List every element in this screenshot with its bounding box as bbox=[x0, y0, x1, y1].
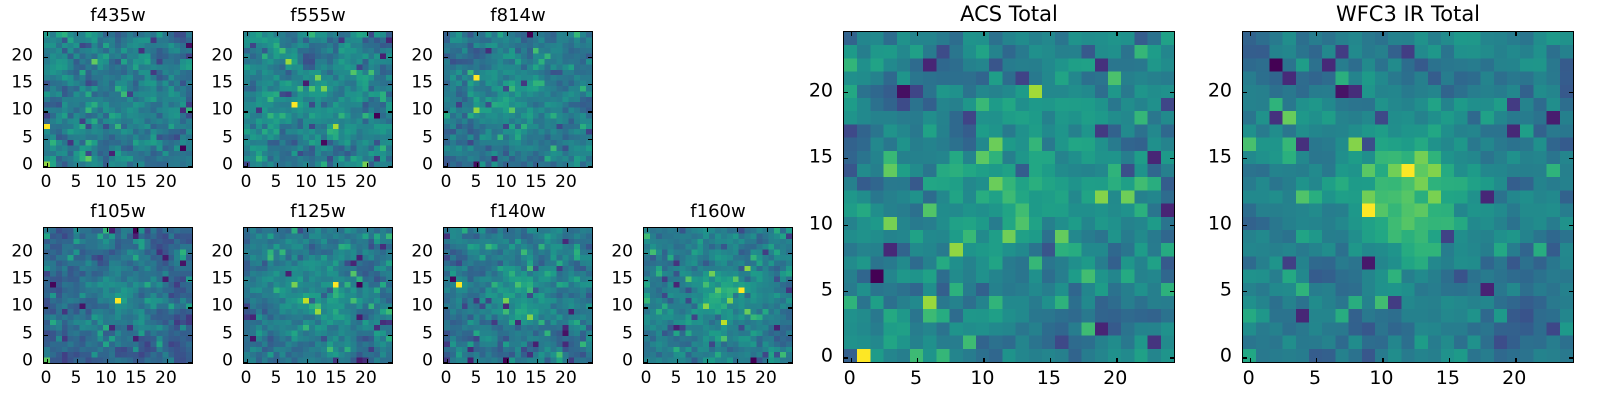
y-tick-f555w-1 bbox=[244, 139, 248, 140]
y-tick-right-f105w-2 bbox=[188, 307, 192, 308]
x-tick-top-f160w-3 bbox=[737, 228, 738, 232]
x-tick-top-f105w-4 bbox=[167, 228, 168, 232]
x-tick-f814w-3 bbox=[537, 163, 538, 167]
y-tick-label-wrap-f160w-2: 10 bbox=[611, 298, 633, 315]
heatmap-image-f105w bbox=[44, 228, 192, 363]
y-tick-right-f160w-4 bbox=[788, 253, 792, 254]
x-tick-f814w-4 bbox=[567, 163, 568, 167]
heatmap-axes-acs-total bbox=[843, 31, 1175, 363]
y-tick-label-wrap-acs-total-0: 0 bbox=[821, 347, 833, 366]
heatmap-axes-f555w bbox=[243, 31, 393, 168]
y-tick-right-f105w-3 bbox=[188, 280, 192, 281]
x-tick-label-f105w-3: 15 bbox=[125, 370, 147, 387]
y-tick-right-f160w-1 bbox=[788, 335, 792, 336]
y-tick-acs-total-1 bbox=[844, 291, 848, 292]
x-tick-label-f555w-3: 15 bbox=[325, 174, 347, 191]
y-tick-label-wrap-f140w-2: 10 bbox=[411, 298, 433, 315]
x-tick-top-f125w-2 bbox=[307, 228, 308, 232]
x-tick-top-f814w-4 bbox=[567, 32, 568, 36]
x-tick-label-acs-total-2: 10 bbox=[970, 369, 994, 388]
x-tick-label-acs-total-1: 5 bbox=[910, 369, 922, 388]
x-tick-top-acs-total-3 bbox=[1050, 32, 1051, 36]
x-tick-top-f555w-3 bbox=[337, 32, 338, 36]
x-tick-wfc3-ir-total-3 bbox=[1449, 358, 1450, 362]
x-tick-top-f105w-0 bbox=[47, 228, 48, 232]
x-tick-top-f555w-1 bbox=[277, 32, 278, 36]
y-tick-right-f125w-4 bbox=[388, 253, 392, 254]
y-tick-wfc3-ir-total-3 bbox=[1243, 158, 1247, 159]
x-tick-label-f160w-2: 10 bbox=[695, 370, 717, 387]
x-tick-label-f140w-0: 0 bbox=[441, 370, 452, 387]
y-tick-f435w-1 bbox=[44, 139, 48, 140]
y-tick-right-wfc3-ir-total-1 bbox=[1569, 291, 1573, 292]
y-tick-f160w-3 bbox=[644, 280, 648, 281]
heatmap-axes-f125w bbox=[243, 227, 393, 364]
y-tick-right-f160w-3 bbox=[788, 280, 792, 281]
x-tick-label-f435w-2: 10 bbox=[95, 174, 117, 191]
x-tick-top-f140w-4 bbox=[567, 228, 568, 232]
x-tick-f160w-3 bbox=[737, 359, 738, 363]
y-tick-label-wrap-f125w-0: 0 bbox=[222, 353, 233, 370]
x-tick-f105w-1 bbox=[77, 359, 78, 363]
y-tick-f814w-2 bbox=[444, 111, 448, 112]
y-tick-acs-total-2 bbox=[844, 225, 848, 226]
y-tick-f555w-3 bbox=[244, 84, 248, 85]
x-tick-label-f814w-1: 5 bbox=[471, 174, 482, 191]
x-tick-top-f814w-1 bbox=[477, 32, 478, 36]
y-tick-f160w-0 bbox=[644, 362, 648, 363]
x-tick-label-f160w-3: 15 bbox=[725, 370, 747, 387]
y-tick-right-acs-total-2 bbox=[1170, 225, 1174, 226]
x-tick-acs-total-4 bbox=[1116, 358, 1117, 362]
y-tick-right-wfc3-ir-total-0 bbox=[1569, 357, 1573, 358]
heatmap-image-f555w bbox=[244, 32, 392, 167]
x-tick-f140w-4 bbox=[567, 359, 568, 363]
y-tick-label-wrap-f105w-3: 15 bbox=[11, 271, 33, 288]
x-tick-label-wfc3-ir-total-4: 20 bbox=[1502, 369, 1526, 388]
x-tick-f160w-4 bbox=[767, 359, 768, 363]
x-tick-label-f814w-2: 10 bbox=[495, 174, 517, 191]
heatmap-image-acs-total bbox=[844, 32, 1174, 362]
y-tick-label-wrap-wfc3-ir-total-1: 5 bbox=[1220, 280, 1232, 299]
panel-title-f435w: f435w bbox=[43, 7, 193, 25]
y-tick-label-wrap-f435w-0: 0 bbox=[22, 157, 33, 174]
y-tick-right-f125w-2 bbox=[388, 307, 392, 308]
y-tick-label-wrap-f140w-3: 15 bbox=[411, 271, 433, 288]
y-tick-f814w-1 bbox=[444, 139, 448, 140]
y-tick-right-f125w-1 bbox=[388, 335, 392, 336]
x-tick-f814w-2 bbox=[507, 163, 508, 167]
y-tick-label-wrap-f105w-2: 10 bbox=[11, 298, 33, 315]
x-tick-wfc3-ir-total-0 bbox=[1250, 358, 1251, 362]
y-tick-label-wrap-f105w-1: 5 bbox=[22, 325, 33, 342]
x-tick-f814w-1 bbox=[477, 163, 478, 167]
y-tick-label-wrap-f435w-4: 20 bbox=[11, 47, 33, 64]
x-tick-label-f814w-3: 15 bbox=[525, 174, 547, 191]
x-tick-top-wfc3-ir-total-2 bbox=[1382, 32, 1383, 36]
x-tick-wfc3-ir-total-2 bbox=[1382, 358, 1383, 362]
heatmap-axes-f105w bbox=[43, 227, 193, 364]
x-tick-label-wfc3-ir-total-0: 0 bbox=[1243, 369, 1255, 388]
x-tick-f125w-1 bbox=[277, 359, 278, 363]
x-tick-label-f435w-1: 5 bbox=[71, 174, 82, 191]
x-tick-label-f435w-0: 0 bbox=[41, 174, 52, 191]
y-tick-right-f814w-2 bbox=[588, 111, 592, 112]
y-tick-f435w-3 bbox=[44, 84, 48, 85]
x-tick-f125w-3 bbox=[337, 359, 338, 363]
x-tick-wfc3-ir-total-4 bbox=[1515, 358, 1516, 362]
y-tick-wfc3-ir-total-2 bbox=[1243, 225, 1247, 226]
panel-f435w: f435w0510152005101520 bbox=[43, 31, 193, 168]
x-tick-top-f125w-4 bbox=[367, 228, 368, 232]
y-tick-label-wrap-f814w-3: 15 bbox=[411, 75, 433, 92]
x-tick-top-f140w-2 bbox=[507, 228, 508, 232]
panel-f814w: f814w0510152005101520 bbox=[443, 31, 593, 168]
y-tick-f140w-4 bbox=[444, 253, 448, 254]
x-tick-top-f140w-3 bbox=[537, 228, 538, 232]
y-tick-label-wrap-f125w-1: 5 bbox=[222, 325, 233, 342]
x-tick-top-f160w-2 bbox=[707, 228, 708, 232]
panel-title-wfc3-ir-total: WFC3 IR Total bbox=[1242, 4, 1574, 25]
y-tick-label-wrap-acs-total-3: 15 bbox=[809, 148, 833, 167]
y-tick-right-f814w-3 bbox=[588, 84, 592, 85]
x-tick-label-f105w-0: 0 bbox=[41, 370, 52, 387]
y-tick-right-f125w-3 bbox=[388, 280, 392, 281]
y-tick-label-wrap-f140w-1: 5 bbox=[422, 325, 433, 342]
y-tick-right-f435w-0 bbox=[188, 166, 192, 167]
y-tick-right-f555w-1 bbox=[388, 139, 392, 140]
y-tick-f160w-4 bbox=[644, 253, 648, 254]
y-tick-right-f140w-4 bbox=[588, 253, 592, 254]
y-tick-right-wfc3-ir-total-4 bbox=[1569, 92, 1573, 93]
x-tick-top-acs-total-4 bbox=[1116, 32, 1117, 36]
x-tick-label-f140w-2: 10 bbox=[495, 370, 517, 387]
x-tick-label-f105w-4: 20 bbox=[155, 370, 177, 387]
panel-title-f125w: f125w bbox=[243, 203, 393, 221]
heatmap-axes-f814w bbox=[443, 31, 593, 168]
panel-title-f814w: f814w bbox=[443, 7, 593, 25]
y-tick-label-wrap-f814w-1: 5 bbox=[422, 129, 433, 146]
x-tick-top-f555w-2 bbox=[307, 32, 308, 36]
heatmap-image-f140w bbox=[444, 228, 592, 363]
y-tick-f125w-1 bbox=[244, 335, 248, 336]
x-tick-f435w-3 bbox=[137, 163, 138, 167]
x-tick-top-f125w-1 bbox=[277, 228, 278, 232]
x-tick-label-acs-total-4: 20 bbox=[1103, 369, 1127, 388]
y-tick-right-f435w-3 bbox=[188, 84, 192, 85]
y-tick-f160w-1 bbox=[644, 335, 648, 336]
x-tick-top-f160w-0 bbox=[647, 228, 648, 232]
x-tick-acs-total-2 bbox=[983, 358, 984, 362]
x-tick-label-f555w-2: 10 bbox=[295, 174, 317, 191]
y-tick-right-f125w-0 bbox=[388, 362, 392, 363]
x-tick-top-f105w-1 bbox=[77, 228, 78, 232]
y-tick-label-wrap-wfc3-ir-total-3: 15 bbox=[1208, 148, 1232, 167]
x-tick-top-f555w-0 bbox=[247, 32, 248, 36]
x-tick-top-f435w-1 bbox=[77, 32, 78, 36]
y-tick-f435w-4 bbox=[44, 57, 48, 58]
y-tick-f125w-0 bbox=[244, 362, 248, 363]
y-tick-f105w-4 bbox=[44, 253, 48, 254]
figure-canvas: f435w0510152005101520f555w05101520051015… bbox=[0, 0, 1600, 400]
x-tick-acs-total-3 bbox=[1050, 358, 1051, 362]
x-tick-label-f140w-1: 5 bbox=[471, 370, 482, 387]
x-tick-top-f105w-3 bbox=[137, 228, 138, 232]
y-tick-right-f814w-4 bbox=[588, 57, 592, 58]
y-tick-label-wrap-f435w-2: 10 bbox=[11, 102, 33, 119]
y-tick-label-wrap-f555w-3: 15 bbox=[211, 75, 233, 92]
y-tick-label-wrap-acs-total-4: 20 bbox=[809, 81, 833, 100]
y-tick-right-f435w-4 bbox=[188, 57, 192, 58]
y-tick-right-f105w-4 bbox=[188, 253, 192, 254]
y-tick-right-f814w-1 bbox=[588, 139, 592, 140]
panel-title-f105w: f105w bbox=[43, 203, 193, 221]
y-tick-wfc3-ir-total-0 bbox=[1243, 357, 1247, 358]
x-tick-wfc3-ir-total-1 bbox=[1316, 358, 1317, 362]
x-tick-top-acs-total-0 bbox=[851, 32, 852, 36]
x-tick-top-f435w-2 bbox=[107, 32, 108, 36]
x-tick-top-wfc3-ir-total-1 bbox=[1316, 32, 1317, 36]
y-tick-f105w-0 bbox=[44, 362, 48, 363]
y-tick-label-wrap-f125w-4: 20 bbox=[211, 243, 233, 260]
y-tick-right-f140w-1 bbox=[588, 335, 592, 336]
y-tick-f555w-0 bbox=[244, 166, 248, 167]
y-tick-label-wrap-wfc3-ir-total-0: 0 bbox=[1220, 347, 1232, 366]
y-tick-label-wrap-f555w-0: 0 bbox=[222, 157, 233, 174]
x-tick-label-f140w-3: 15 bbox=[525, 370, 547, 387]
y-tick-f140w-0 bbox=[444, 362, 448, 363]
y-tick-right-f160w-0 bbox=[788, 362, 792, 363]
heatmap-image-f814w bbox=[444, 32, 592, 167]
x-tick-f105w-4 bbox=[167, 359, 168, 363]
x-tick-acs-total-0 bbox=[851, 358, 852, 362]
x-tick-f435w-4 bbox=[167, 163, 168, 167]
y-tick-label-wrap-f814w-4: 20 bbox=[411, 47, 433, 64]
x-tick-f435w-1 bbox=[77, 163, 78, 167]
y-tick-label-wrap-f140w-0: 0 bbox=[422, 353, 433, 370]
heatmap-axes-f140w bbox=[443, 227, 593, 364]
x-tick-top-f125w-3 bbox=[337, 228, 338, 232]
y-tick-label-wrap-f160w-3: 15 bbox=[611, 271, 633, 288]
y-tick-right-acs-total-1 bbox=[1170, 291, 1174, 292]
panel-title-f555w: f555w bbox=[243, 7, 393, 25]
y-tick-label-wrap-f140w-4: 20 bbox=[411, 243, 433, 260]
x-tick-label-f814w-0: 0 bbox=[441, 174, 452, 191]
x-tick-f555w-4 bbox=[367, 163, 368, 167]
y-tick-f814w-4 bbox=[444, 57, 448, 58]
x-tick-top-acs-total-2 bbox=[983, 32, 984, 36]
x-tick-top-wfc3-ir-total-3 bbox=[1449, 32, 1450, 36]
y-tick-right-f105w-0 bbox=[188, 362, 192, 363]
x-tick-top-f160w-1 bbox=[677, 228, 678, 232]
y-tick-right-f435w-1 bbox=[188, 139, 192, 140]
heatmap-axes-f435w bbox=[43, 31, 193, 168]
y-tick-f125w-2 bbox=[244, 307, 248, 308]
y-tick-label-wrap-wfc3-ir-total-2: 10 bbox=[1208, 214, 1232, 233]
y-tick-label-wrap-f160w-0: 0 bbox=[622, 353, 633, 370]
x-tick-label-f125w-1: 5 bbox=[271, 370, 282, 387]
y-tick-right-f435w-2 bbox=[188, 111, 192, 112]
y-tick-acs-total-0 bbox=[844, 357, 848, 358]
y-tick-right-wfc3-ir-total-2 bbox=[1569, 225, 1573, 226]
x-tick-f125w-4 bbox=[367, 359, 368, 363]
y-tick-right-f814w-0 bbox=[588, 166, 592, 167]
x-tick-label-f555w-1: 5 bbox=[271, 174, 282, 191]
y-tick-label-wrap-f105w-4: 20 bbox=[11, 243, 33, 260]
x-tick-f125w-2 bbox=[307, 359, 308, 363]
x-tick-label-f555w-4: 20 bbox=[355, 174, 377, 191]
y-tick-right-f140w-0 bbox=[588, 362, 592, 363]
x-tick-top-f160w-4 bbox=[767, 228, 768, 232]
y-tick-label-wrap-f814w-0: 0 bbox=[422, 157, 433, 174]
y-tick-right-f555w-3 bbox=[388, 84, 392, 85]
x-tick-top-f814w-2 bbox=[507, 32, 508, 36]
x-tick-label-f160w-0: 0 bbox=[641, 370, 652, 387]
y-tick-f435w-0 bbox=[44, 166, 48, 167]
x-tick-f435w-2 bbox=[107, 163, 108, 167]
y-tick-right-f140w-2 bbox=[588, 307, 592, 308]
y-tick-wfc3-ir-total-4 bbox=[1243, 92, 1247, 93]
y-tick-label-wrap-f125w-2: 10 bbox=[211, 298, 233, 315]
x-tick-f160w-1 bbox=[677, 359, 678, 363]
x-tick-label-wfc3-ir-total-1: 5 bbox=[1309, 369, 1321, 388]
y-tick-f105w-3 bbox=[44, 280, 48, 281]
y-tick-acs-total-4 bbox=[844, 92, 848, 93]
y-tick-right-wfc3-ir-total-3 bbox=[1569, 158, 1573, 159]
x-tick-label-f160w-1: 5 bbox=[671, 370, 682, 387]
x-tick-top-f125w-0 bbox=[247, 228, 248, 232]
y-tick-label-wrap-f555w-4: 20 bbox=[211, 47, 233, 64]
y-tick-f105w-1 bbox=[44, 335, 48, 336]
y-tick-f814w-0 bbox=[444, 166, 448, 167]
y-tick-f140w-3 bbox=[444, 280, 448, 281]
y-tick-acs-total-3 bbox=[844, 158, 848, 159]
y-tick-label-wrap-f814w-2: 10 bbox=[411, 102, 433, 119]
panel-f555w: f555w0510152005101520 bbox=[243, 31, 393, 168]
y-tick-right-acs-total-0 bbox=[1170, 357, 1174, 358]
panel-acs-total: ACS Total0510152005101520 bbox=[843, 31, 1175, 363]
x-tick-f105w-2 bbox=[107, 359, 108, 363]
y-tick-label-wrap-wfc3-ir-total-4: 20 bbox=[1208, 81, 1232, 100]
x-tick-f160w-2 bbox=[707, 359, 708, 363]
x-tick-acs-total-1 bbox=[917, 358, 918, 362]
y-tick-right-f140w-3 bbox=[588, 280, 592, 281]
y-tick-f105w-2 bbox=[44, 307, 48, 308]
y-tick-label-wrap-f125w-3: 15 bbox=[211, 271, 233, 288]
x-tick-label-wfc3-ir-total-2: 10 bbox=[1369, 369, 1393, 388]
y-tick-f140w-1 bbox=[444, 335, 448, 336]
x-tick-f140w-1 bbox=[477, 359, 478, 363]
x-tick-label-f125w-3: 15 bbox=[325, 370, 347, 387]
y-tick-f555w-2 bbox=[244, 111, 248, 112]
x-tick-f140w-3 bbox=[537, 359, 538, 363]
panel-f140w: f140w0510152005101520 bbox=[443, 227, 593, 364]
y-tick-right-acs-total-3 bbox=[1170, 158, 1174, 159]
y-tick-right-f555w-0 bbox=[388, 166, 392, 167]
x-tick-f555w-2 bbox=[307, 163, 308, 167]
x-tick-top-f140w-1 bbox=[477, 228, 478, 232]
heatmap-axes-f160w bbox=[643, 227, 793, 364]
x-tick-top-wfc3-ir-total-0 bbox=[1250, 32, 1251, 36]
x-tick-top-f435w-4 bbox=[167, 32, 168, 36]
x-tick-label-acs-total-0: 0 bbox=[844, 369, 856, 388]
heatmap-axes-wfc3-ir-total bbox=[1242, 31, 1574, 363]
y-tick-label-wrap-acs-total-2: 10 bbox=[809, 214, 833, 233]
y-tick-right-f160w-2 bbox=[788, 307, 792, 308]
x-tick-label-wfc3-ir-total-3: 15 bbox=[1436, 369, 1460, 388]
heatmap-image-f435w bbox=[44, 32, 192, 167]
x-tick-label-f125w-0: 0 bbox=[241, 370, 252, 387]
y-tick-right-acs-total-4 bbox=[1170, 92, 1174, 93]
x-tick-label-f105w-1: 5 bbox=[71, 370, 82, 387]
x-tick-label-f435w-3: 15 bbox=[125, 174, 147, 191]
x-tick-label-f140w-4: 20 bbox=[555, 370, 577, 387]
y-tick-label-wrap-f105w-0: 0 bbox=[22, 353, 33, 370]
panel-f125w: f125w0510152005101520 bbox=[243, 227, 393, 364]
x-tick-label-f125w-4: 20 bbox=[355, 370, 377, 387]
x-tick-top-f555w-4 bbox=[367, 32, 368, 36]
x-tick-top-f435w-0 bbox=[47, 32, 48, 36]
x-tick-top-acs-total-1 bbox=[917, 32, 918, 36]
x-tick-label-f125w-2: 10 bbox=[295, 370, 317, 387]
heatmap-image-wfc3-ir-total bbox=[1243, 32, 1573, 362]
y-tick-f160w-2 bbox=[644, 307, 648, 308]
y-tick-wfc3-ir-total-1 bbox=[1243, 291, 1247, 292]
panel-wfc3-ir-total: WFC3 IR Total0510152005101520 bbox=[1242, 31, 1574, 363]
y-tick-label-wrap-f555w-2: 10 bbox=[211, 102, 233, 119]
x-tick-f555w-1 bbox=[277, 163, 278, 167]
y-tick-right-f555w-4 bbox=[388, 57, 392, 58]
x-tick-top-f140w-0 bbox=[447, 228, 448, 232]
x-tick-label-f435w-4: 20 bbox=[155, 174, 177, 191]
y-tick-f435w-2 bbox=[44, 111, 48, 112]
y-tick-right-f105w-1 bbox=[188, 335, 192, 336]
x-tick-label-f105w-2: 10 bbox=[95, 370, 117, 387]
y-tick-label-wrap-acs-total-1: 5 bbox=[821, 280, 833, 299]
x-tick-top-f814w-3 bbox=[537, 32, 538, 36]
y-tick-label-wrap-f555w-1: 5 bbox=[222, 129, 233, 146]
y-tick-label-wrap-f160w-1: 5 bbox=[622, 325, 633, 342]
y-tick-label-wrap-f435w-1: 5 bbox=[22, 129, 33, 146]
y-tick-f140w-2 bbox=[444, 307, 448, 308]
x-tick-top-wfc3-ir-total-4 bbox=[1515, 32, 1516, 36]
x-tick-top-f435w-3 bbox=[137, 32, 138, 36]
x-tick-label-f555w-0: 0 bbox=[241, 174, 252, 191]
x-tick-label-f160w-4: 20 bbox=[755, 370, 777, 387]
y-tick-right-f555w-2 bbox=[388, 111, 392, 112]
y-tick-f125w-3 bbox=[244, 280, 248, 281]
x-tick-top-f105w-2 bbox=[107, 228, 108, 232]
panel-f105w: f105w0510152005101520 bbox=[43, 227, 193, 364]
panel-f160w: f160w0510152005101520 bbox=[643, 227, 793, 364]
x-tick-f555w-3 bbox=[337, 163, 338, 167]
y-tick-f555w-4 bbox=[244, 57, 248, 58]
x-tick-label-f814w-4: 20 bbox=[555, 174, 577, 191]
x-tick-top-f814w-0 bbox=[447, 32, 448, 36]
y-tick-f125w-4 bbox=[244, 253, 248, 254]
panel-title-f160w: f160w bbox=[643, 203, 793, 221]
panel-title-acs-total: ACS Total bbox=[843, 4, 1175, 25]
y-tick-label-wrap-f435w-3: 15 bbox=[11, 75, 33, 92]
heatmap-image-f160w bbox=[644, 228, 792, 363]
x-tick-f105w-3 bbox=[137, 359, 138, 363]
x-tick-label-acs-total-3: 15 bbox=[1037, 369, 1061, 388]
x-tick-f140w-2 bbox=[507, 359, 508, 363]
y-tick-f814w-3 bbox=[444, 84, 448, 85]
panel-title-f140w: f140w bbox=[443, 203, 593, 221]
heatmap-image-f125w bbox=[244, 228, 392, 363]
y-tick-label-wrap-f160w-4: 20 bbox=[611, 243, 633, 260]
